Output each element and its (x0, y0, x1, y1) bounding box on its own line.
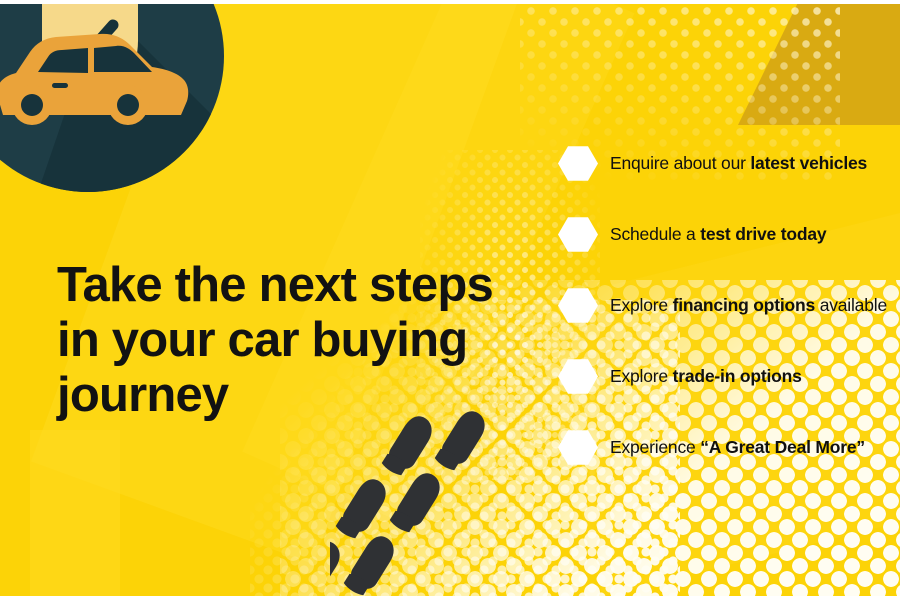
hexagon-bullet-icon (558, 430, 598, 466)
list-item[interactable]: Schedule a test drive today (558, 199, 898, 270)
list-item-label: Explore financing options available (610, 296, 887, 315)
list-item[interactable]: Explore financing options available (558, 270, 898, 341)
list-item[interactable]: Experience “A Great Deal More” (558, 412, 898, 483)
list-item-label: Schedule a test drive today (610, 225, 826, 244)
list-item[interactable]: Enquire about our latest vehicles (558, 128, 898, 199)
list-item-label: Explore trade-in options (610, 367, 802, 386)
hexagon-bullet-icon (558, 288, 598, 324)
bottom-edge-strip (0, 596, 900, 600)
background-band (30, 430, 120, 600)
car-shield-logo (0, 0, 224, 192)
hexagon-bullet-icon (558, 217, 598, 253)
hexagon-bullet-icon (558, 359, 598, 395)
list-item[interactable]: Explore trade-in options (558, 341, 898, 412)
list-item-label: Enquire about our latest vehicles (610, 154, 867, 173)
list-item-label: Experience “A Great Deal More” (610, 438, 865, 457)
checklist: Enquire about our latest vehicles Schedu… (558, 128, 898, 483)
top-edge-strip (0, 0, 900, 4)
footprints-graphic (330, 400, 560, 600)
page-title: Take the next steps in your car buying j… (57, 258, 527, 423)
promo-banner: Take the next steps in your car buying j… (0, 0, 900, 600)
hexagon-bullet-icon (558, 146, 598, 182)
